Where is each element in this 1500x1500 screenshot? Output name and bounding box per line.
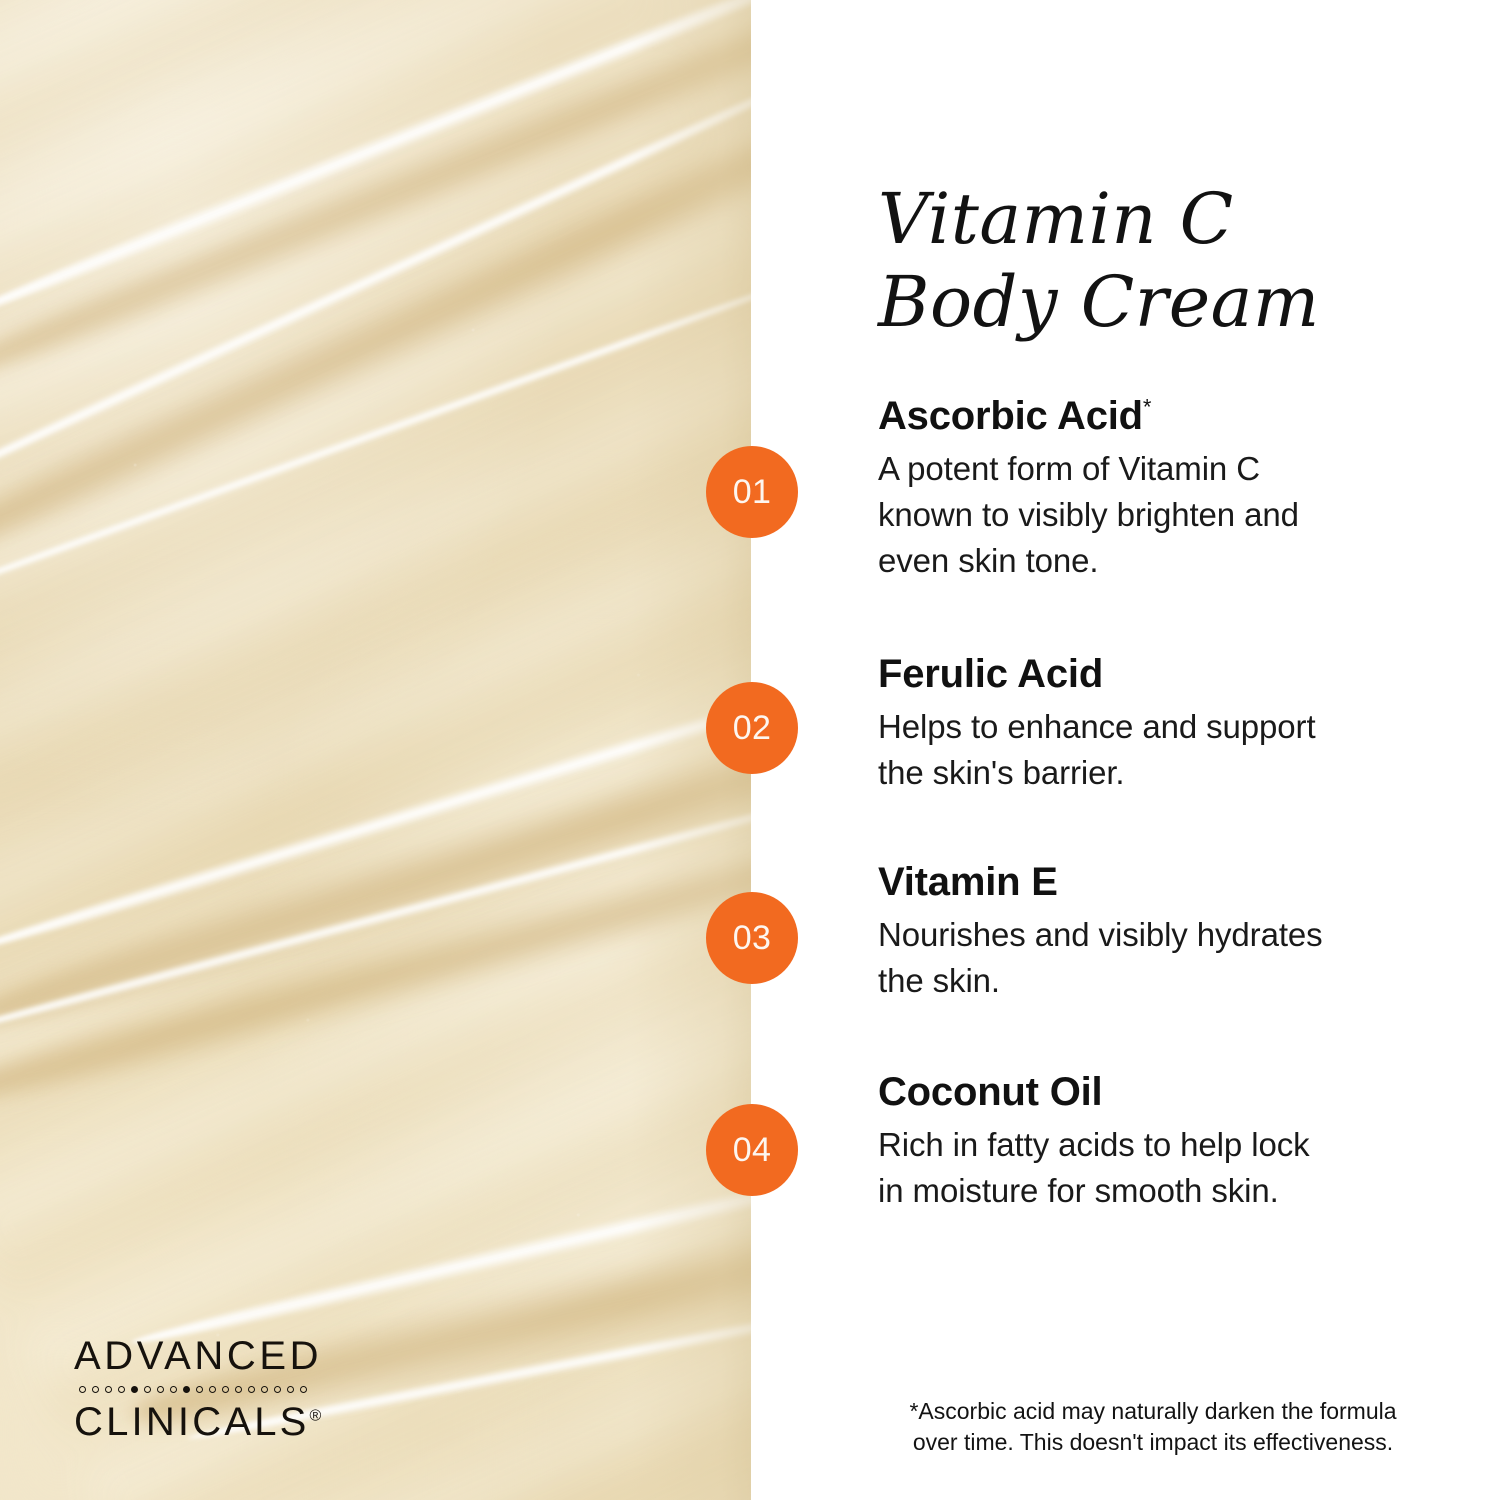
- logo-dot: [79, 1386, 86, 1393]
- content-panel: Vitamin C Body Cream Ascorbic Acid* A po…: [751, 0, 1500, 1500]
- disclaimer-footnote: *Ascorbic acid may naturally darken the …: [751, 1396, 1500, 1459]
- ingredient-block-1: Ascorbic Acid* A potent form of Vitamin …: [878, 394, 1398, 584]
- logo-dot: [222, 1386, 229, 1393]
- ingredient-badge-04: 04: [706, 1104, 798, 1196]
- logo-dot-divider: [79, 1385, 374, 1394]
- cream-texture-image: ADVANCED CLINICALS: [0, 0, 751, 1500]
- logo-word-clinicals: CLINICALS®: [74, 1402, 374, 1442]
- ingredient-name-1-text: Ascorbic Acid: [878, 394, 1143, 438]
- footnote-marker-icon: *: [1143, 395, 1151, 420]
- logo-dot: [261, 1386, 268, 1393]
- ingredient-block-4: Coconut Oil Rich in fatty acids to help …: [878, 1070, 1398, 1214]
- product-infographic: ADVANCED CLINICALS: [0, 0, 1500, 1500]
- logo-dot: [144, 1386, 151, 1393]
- logo-word-clinicals-text: CLINICALS: [74, 1400, 310, 1444]
- logo-dot: [196, 1386, 203, 1393]
- logo-dot: [248, 1386, 255, 1393]
- ingredient-description-3: Nourishes and visibly hydrates the skin.: [878, 912, 1398, 1004]
- ingredient-description-4: Rich in fatty acids to help lock in mois…: [878, 1122, 1398, 1214]
- logo-dot: [209, 1386, 216, 1393]
- ingredient-name-1: Ascorbic Acid*: [878, 394, 1398, 439]
- ingredient-badge-02: 02: [706, 682, 798, 774]
- ingredient-name-3: Vitamin E: [878, 860, 1398, 905]
- logo-dot: [274, 1386, 281, 1393]
- brand-logo: ADVANCED CLINICALS: [74, 1336, 374, 1442]
- page-title: Vitamin C Body Cream: [878, 178, 1320, 343]
- logo-word-advanced: ADVANCED: [74, 1336, 374, 1376]
- ingredient-description-2: Helps to enhance and support the skin's …: [878, 704, 1398, 796]
- logo-dot: [287, 1386, 294, 1393]
- logo-dot: [300, 1386, 307, 1393]
- ingredient-badge-03: 03: [706, 892, 798, 984]
- ingredient-block-2: Ferulic Acid Helps to enhance and suppor…: [878, 652, 1398, 796]
- logo-dot: [170, 1386, 177, 1393]
- logo-dot: [105, 1386, 112, 1393]
- ingredient-badge-01: 01: [706, 446, 798, 538]
- ingredient-name-4: Coconut Oil: [878, 1070, 1398, 1115]
- logo-dot-filled: [183, 1386, 190, 1393]
- logo-dot: [157, 1386, 164, 1393]
- logo-dot-filled: [131, 1386, 138, 1393]
- ingredient-block-3: Vitamin E Nourishes and visibly hydrates…: [878, 860, 1398, 1004]
- ingredient-name-2: Ferulic Acid: [878, 652, 1398, 697]
- registered-trademark-icon: ®: [310, 1408, 322, 1425]
- ingredient-description-1: A potent form of Vitamin C known to visi…: [878, 446, 1398, 585]
- logo-dot: [118, 1386, 125, 1393]
- logo-dot: [235, 1386, 242, 1393]
- logo-dot: [92, 1386, 99, 1393]
